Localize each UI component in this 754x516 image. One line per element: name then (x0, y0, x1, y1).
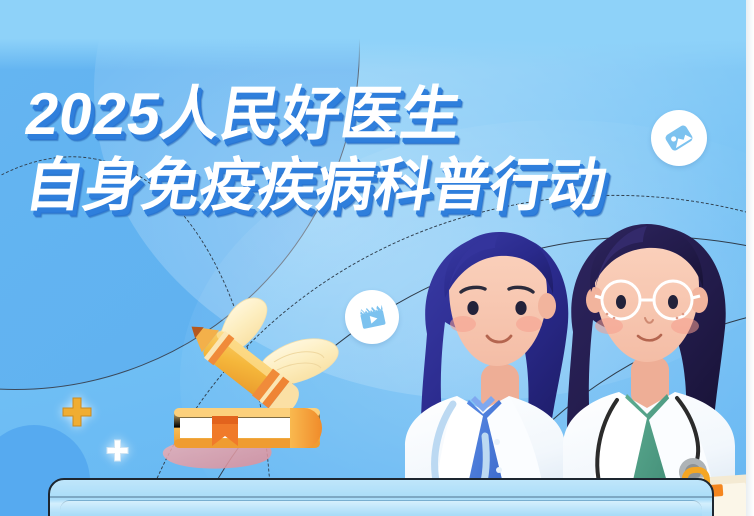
photo-badge[interactable] (651, 110, 707, 166)
plus-icon (60, 395, 94, 429)
doctor-right (563, 224, 754, 516)
video-clapper-icon (356, 301, 389, 334)
doctor-left (405, 232, 568, 516)
desk-edge-line (50, 496, 712, 498)
education-illustration (150, 296, 360, 496)
video-badge[interactable] (345, 290, 399, 344)
image-icon (662, 121, 696, 155)
doctors-illustration (395, 214, 754, 516)
plus-icon (105, 438, 130, 463)
right-edge-strip (746, 0, 754, 516)
title-line-2: 自身免疫疾病科普行动 (20, 150, 611, 222)
desk-surface (48, 478, 714, 516)
plus-decoration-white (105, 438, 130, 468)
desk-inner-surface (60, 500, 702, 516)
poster-canvas: 2025人民好医生 自身免疫疾病科普行动 (0, 0, 754, 516)
title-line-1: 2025人民好医生 (20, 78, 611, 150)
winged-pencil-icon (181, 298, 338, 420)
top-gradient-mask (0, 0, 754, 70)
plus-decoration-orange (60, 395, 94, 434)
page-title: 2025人民好医生 自身免疫疾病科普行动 (26, 78, 606, 222)
book-icon (174, 408, 322, 448)
